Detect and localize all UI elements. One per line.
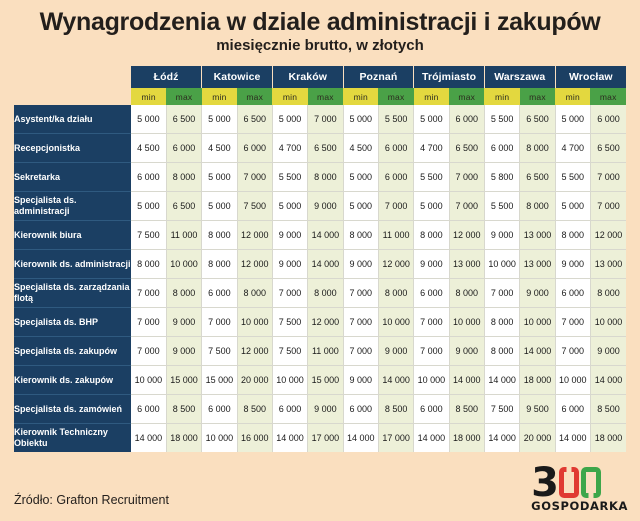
cell-max: 8 000 (449, 279, 484, 308)
cell-min: 5 000 (555, 192, 590, 221)
cell-max: 9 000 (166, 308, 201, 337)
cell-max: 13 000 (590, 250, 626, 279)
cell-min: 6 000 (414, 279, 449, 308)
cell-min: 5 800 (484, 163, 519, 192)
cell-min: 7 000 (202, 308, 237, 337)
cell-max: 8 000 (166, 163, 201, 192)
subheader-min-1: min (131, 88, 166, 105)
cell-min: 8 000 (131, 250, 166, 279)
city-header-6: Warszawa (484, 66, 555, 88)
cell-max: 7 000 (308, 105, 343, 134)
subheader-max-1: max (166, 88, 201, 105)
row-label-position: Specjalista ds. administracji (14, 192, 131, 221)
cell-max: 15 000 (166, 366, 201, 395)
cell-max: 11 000 (378, 221, 413, 250)
row-label-position: Kierownik ds. zakupów (14, 366, 131, 395)
cell-min: 8 000 (202, 221, 237, 250)
cell-max: 8 000 (308, 163, 343, 192)
table-row: Kierownik ds. zakupów10 00015 00015 0002… (14, 366, 626, 395)
cell-max: 7 000 (590, 163, 626, 192)
cell-min: 10 000 (131, 366, 166, 395)
cell-max: 7 000 (590, 192, 626, 221)
city-header-1: Łódź (131, 66, 202, 88)
city-header-2: Katowice (202, 66, 273, 88)
cell-max: 7 000 (378, 192, 413, 221)
cell-max: 8 500 (378, 395, 413, 424)
cell-max: 12 000 (237, 250, 272, 279)
subheader-max-5: max (449, 88, 484, 105)
subheader-min-3: min (272, 88, 307, 105)
cell-min: 7 500 (202, 337, 237, 366)
cell-max: 12 000 (308, 308, 343, 337)
cell-max: 6 000 (166, 134, 201, 163)
cell-min: 5 500 (555, 163, 590, 192)
cell-max: 6 000 (237, 134, 272, 163)
cell-max: 9 000 (378, 337, 413, 366)
cell-min: 5 000 (343, 163, 378, 192)
cell-min: 9 000 (555, 250, 590, 279)
cell-max: 9 000 (308, 395, 343, 424)
cell-max: 10 000 (237, 308, 272, 337)
cell-min: 5 000 (343, 105, 378, 134)
cell-max: 7 500 (237, 192, 272, 221)
cell-max: 10 000 (166, 250, 201, 279)
table-row: Kierownik biura7 50011 0008 00012 0009 0… (14, 221, 626, 250)
cell-max: 14 000 (308, 250, 343, 279)
cell-max: 18 000 (166, 424, 201, 453)
cell-min: 6 000 (343, 395, 378, 424)
title-block: Wynagrodzenia w dziale administracji i z… (0, 0, 640, 55)
subheader-max-6: max (520, 88, 555, 105)
table-row: Kierownik Techniczny Obiektu14 00018 000… (14, 424, 626, 453)
cell-min: 5 500 (484, 192, 519, 221)
cell-max: 5 500 (378, 105, 413, 134)
cell-max: 7 000 (449, 192, 484, 221)
cell-max: 9 000 (166, 337, 201, 366)
table-row: Specjalista ds. BHP7 0009 0007 00010 000… (14, 308, 626, 337)
row-label-position: Kierownik ds. administracji (14, 250, 131, 279)
cell-min: 7 000 (272, 279, 307, 308)
cell-max: 8 500 (166, 395, 201, 424)
row-label-position: Specjalista ds. BHP (14, 308, 131, 337)
cell-min: 9 000 (343, 250, 378, 279)
city-header-5: Trójmiasto (414, 66, 485, 88)
cell-max: 8 000 (520, 192, 555, 221)
subheader-min-5: min (414, 88, 449, 105)
cell-min: 7 000 (131, 279, 166, 308)
cell-max: 6 000 (378, 163, 413, 192)
cell-max: 18 000 (520, 366, 555, 395)
cell-max: 10 000 (449, 308, 484, 337)
subheader-max-7: max (590, 88, 626, 105)
subheader-min-7: min (555, 88, 590, 105)
cell-max: 6 000 (449, 105, 484, 134)
city-header-7: Wrocław (555, 66, 626, 88)
cell-max: 12 000 (237, 337, 272, 366)
cell-max: 20 000 (237, 366, 272, 395)
row-label-position: Sekretarka (14, 163, 131, 192)
cell-min: 8 000 (414, 221, 449, 250)
logo-digit-three: 3 (531, 468, 557, 498)
cell-max: 9 500 (520, 395, 555, 424)
salary-table-container: ŁódźKatowiceKrakówPoznańTrójmiastoWarsza… (14, 66, 626, 452)
cell-max: 6 500 (166, 192, 201, 221)
cell-max: 6 500 (590, 134, 626, 163)
cell-max: 9 000 (590, 337, 626, 366)
cell-min: 7 000 (343, 308, 378, 337)
cell-min: 6 000 (414, 395, 449, 424)
subheader-max-2: max (237, 88, 272, 105)
cell-max: 8 000 (308, 279, 343, 308)
cell-max: 11 000 (308, 337, 343, 366)
subheader-max-3: max (308, 88, 343, 105)
table-row: Specjalista ds. zamówień6 0008 5006 0008… (14, 395, 626, 424)
cell-min: 8 000 (555, 221, 590, 250)
cell-min: 5 500 (414, 163, 449, 192)
cell-min: 14 000 (131, 424, 166, 453)
cell-min: 14 000 (343, 424, 378, 453)
cell-min: 4 700 (555, 134, 590, 163)
cell-max: 8 000 (378, 279, 413, 308)
cell-min: 6 000 (555, 395, 590, 424)
cell-min: 5 000 (272, 192, 307, 221)
cell-max: 11 000 (166, 221, 201, 250)
cell-min: 5 000 (414, 105, 449, 134)
minmax-header-row: minmaxminmaxminmaxminmaxminmaxminmaxminm… (14, 88, 626, 105)
cell-max: 14 000 (520, 337, 555, 366)
city-header-row: ŁódźKatowiceKrakówPoznańTrójmiastoWarsza… (14, 66, 626, 88)
subheader-min-2: min (202, 88, 237, 105)
cell-max: 6 500 (166, 105, 201, 134)
cell-min: 6 000 (555, 279, 590, 308)
cell-min: 6 000 (484, 134, 519, 163)
cell-max: 14 000 (308, 221, 343, 250)
row-label-position: Kierownik biura (14, 221, 131, 250)
cell-max: 6 500 (520, 105, 555, 134)
cell-min: 4 500 (202, 134, 237, 163)
cell-max: 18 000 (590, 424, 626, 453)
cell-max: 14 000 (378, 366, 413, 395)
cell-min: 7 000 (555, 337, 590, 366)
cell-max: 14 000 (449, 366, 484, 395)
cell-max: 8 000 (520, 134, 555, 163)
cell-min: 7 000 (131, 308, 166, 337)
logo-zero-red-icon (559, 467, 579, 498)
cell-max: 18 000 (449, 424, 484, 453)
cell-min: 4 500 (343, 134, 378, 163)
cell-max: 16 000 (237, 424, 272, 453)
row-label-position: Kierownik Techniczny Obiektu (14, 424, 131, 453)
cell-min: 7 500 (484, 395, 519, 424)
cell-max: 17 000 (378, 424, 413, 453)
source-label: Źródło: Grafton Recruitment (14, 493, 169, 507)
cell-max: 8 000 (237, 279, 272, 308)
cell-max: 12 000 (378, 250, 413, 279)
cell-max: 6 500 (308, 134, 343, 163)
cell-max: 6 500 (449, 134, 484, 163)
table-body: Asystent/ka działu5 0006 5005 0006 5005 … (14, 105, 626, 452)
table-row: Specjalista ds. zarządzania flotą7 0008 … (14, 279, 626, 308)
cell-min: 10 000 (484, 250, 519, 279)
cell-min: 6 000 (202, 279, 237, 308)
cell-min: 6 000 (131, 395, 166, 424)
cell-max: 8 500 (590, 395, 626, 424)
cell-min: 15 000 (202, 366, 237, 395)
cell-min: 8 000 (484, 308, 519, 337)
cell-max: 6 500 (520, 163, 555, 192)
cell-max: 9 000 (308, 192, 343, 221)
cell-min: 7 500 (272, 337, 307, 366)
cell-max: 7 000 (449, 163, 484, 192)
cell-max: 10 000 (590, 308, 626, 337)
logo-300-gospodarka: 3 GOSPODARKA (531, 464, 628, 513)
salary-table: ŁódźKatowiceKrakówPoznańTrójmiastoWarsza… (14, 66, 626, 452)
cell-max: 8 000 (590, 279, 626, 308)
table-row: Specjalista ds. zakupów7 0009 0007 50012… (14, 337, 626, 366)
cell-max: 12 000 (590, 221, 626, 250)
table-header: ŁódźKatowiceKrakówPoznańTrójmiastoWarsza… (14, 66, 626, 105)
cell-max: 6 500 (237, 105, 272, 134)
cell-min: 5 000 (202, 105, 237, 134)
cell-min: 7 000 (555, 308, 590, 337)
cell-max: 12 000 (237, 221, 272, 250)
city-header-4: Poznań (343, 66, 414, 88)
cell-min: 8 000 (484, 337, 519, 366)
cell-min: 5 000 (272, 105, 307, 134)
cell-min: 9 000 (414, 250, 449, 279)
cell-min: 5 000 (414, 192, 449, 221)
row-label-position: Asystent/ka działu (14, 105, 131, 134)
cell-min: 9 000 (272, 221, 307, 250)
cell-min: 5 500 (272, 163, 307, 192)
cell-min: 7 000 (414, 308, 449, 337)
cell-max: 20 000 (520, 424, 555, 453)
cell-max: 8 500 (237, 395, 272, 424)
cell-max: 10 000 (378, 308, 413, 337)
cell-max: 6 000 (590, 105, 626, 134)
table-row: Sekretarka6 0008 0005 0007 0005 5008 000… (14, 163, 626, 192)
cell-min: 8 000 (202, 250, 237, 279)
cell-max: 9 000 (520, 279, 555, 308)
cell-max: 17 000 (308, 424, 343, 453)
cell-min: 5 500 (484, 105, 519, 134)
cell-min: 5 000 (202, 163, 237, 192)
cell-min: 9 000 (272, 250, 307, 279)
logo-zero-green-icon (581, 467, 601, 498)
cell-min: 4 700 (414, 134, 449, 163)
cell-max: 15 000 (308, 366, 343, 395)
table-row: Recepcjonistka4 5006 0004 5006 0004 7006… (14, 134, 626, 163)
cell-min: 10 000 (272, 366, 307, 395)
cell-min: 7 500 (272, 308, 307, 337)
cell-min: 7 000 (131, 337, 166, 366)
cell-min: 9 000 (484, 221, 519, 250)
cell-min: 7 000 (343, 337, 378, 366)
row-label-position: Specjalista ds. zakupów (14, 337, 131, 366)
cell-max: 13 000 (520, 250, 555, 279)
subheader-max-4: max (378, 88, 413, 105)
cell-min: 5 000 (202, 192, 237, 221)
cell-min: 10 000 (414, 366, 449, 395)
logo-mark: 3 (531, 464, 628, 498)
row-label-position: Specjalista ds. zamówień (14, 395, 131, 424)
cell-max: 13 000 (520, 221, 555, 250)
cell-max: 10 000 (520, 308, 555, 337)
cell-min: 6 000 (272, 395, 307, 424)
cell-min: 14 000 (414, 424, 449, 453)
cell-max: 7 000 (237, 163, 272, 192)
row-label-position: Specjalista ds. zarządzania flotą (14, 279, 131, 308)
cell-min: 4 700 (272, 134, 307, 163)
cell-min: 5 000 (131, 192, 166, 221)
cell-min: 6 000 (131, 163, 166, 192)
cell-min: 14 000 (272, 424, 307, 453)
page-title: Wynagrodzenia w dziale administracji i z… (0, 9, 640, 35)
cell-min: 5 000 (343, 192, 378, 221)
logo-wordmark: GOSPODARKA (531, 501, 628, 513)
cell-max: 14 000 (590, 366, 626, 395)
page-subtitle: miesięcznie brutto, w złotych (0, 38, 640, 55)
subheader-min-6: min (484, 88, 519, 105)
cell-min: 14 000 (484, 366, 519, 395)
cell-min: 4 500 (131, 134, 166, 163)
cell-min: 10 000 (555, 366, 590, 395)
cell-min: 6 000 (202, 395, 237, 424)
row-label-position: Recepcjonistka (14, 134, 131, 163)
cell-min: 5 000 (131, 105, 166, 134)
cell-min: 7 000 (484, 279, 519, 308)
city-header-3: Kraków (272, 66, 343, 88)
cell-min: 14 000 (555, 424, 590, 453)
cell-min: 10 000 (202, 424, 237, 453)
cell-min: 7 000 (414, 337, 449, 366)
cell-max: 8 000 (166, 279, 201, 308)
cell-min: 5 000 (555, 105, 590, 134)
cell-max: 12 000 (449, 221, 484, 250)
corner-spacer-2 (14, 88, 131, 105)
table-row: Specjalista ds. administracji5 0006 5005… (14, 192, 626, 221)
table-row: Kierownik ds. administracji8 00010 0008 … (14, 250, 626, 279)
corner-spacer (14, 66, 131, 88)
cell-max: 8 500 (449, 395, 484, 424)
cell-min: 8 000 (343, 221, 378, 250)
cell-min: 9 000 (343, 366, 378, 395)
cell-max: 9 000 (449, 337, 484, 366)
cell-min: 7 500 (131, 221, 166, 250)
cell-min: 7 000 (343, 279, 378, 308)
subheader-min-4: min (343, 88, 378, 105)
cell-max: 13 000 (449, 250, 484, 279)
cell-min: 14 000 (484, 424, 519, 453)
cell-max: 6 000 (378, 134, 413, 163)
table-row: Asystent/ka działu5 0006 5005 0006 5005 … (14, 105, 626, 134)
